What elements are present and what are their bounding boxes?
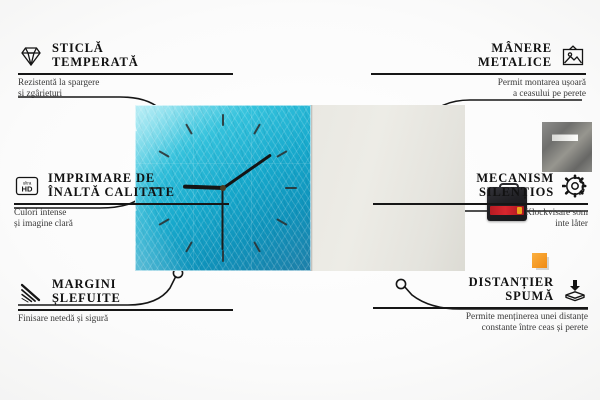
feature-callout-silent-mechanism: MECANISM SILENȚIOS Klockvisare som inte … xyxy=(373,172,588,230)
feature-title: MARGINI ȘLEFUITE xyxy=(52,278,121,305)
divider xyxy=(373,203,588,205)
diagonal-lines-icon xyxy=(18,280,44,304)
feature-callout-metal-handles: MÂNERE METALICE Permit montarea ușoară a… xyxy=(371,42,586,100)
foam-spacer-part xyxy=(532,253,547,268)
feature-title: MECANISM SILENȚIOS xyxy=(476,172,554,199)
feature-subtitle: Finisare netedă și sigură xyxy=(18,314,233,325)
ultra-hd-icon: ultra HD xyxy=(14,174,40,198)
divider xyxy=(18,73,233,75)
divider xyxy=(371,73,586,75)
infographic-stage: STICLĂ TEMPERATĂ Rezistentă la spargere … xyxy=(0,0,600,400)
feature-callout-polished-edges: MARGINI ȘLEFUITE Finisare netedă și sigu… xyxy=(18,278,233,325)
picture-hanger-icon xyxy=(560,44,586,68)
feature-title: MÂNERE METALICE xyxy=(478,42,552,69)
feature-title: IMPRIMARE DE ÎNALTĂ CALITATE xyxy=(48,172,175,199)
minute-hand xyxy=(222,154,271,190)
feature-title: DISTANȚIER SPUMĂ xyxy=(469,276,554,303)
divider xyxy=(18,309,233,311)
feature-callout-foam-spacer: DISTANȚIER SPUMĂ Permite menținerea unei… xyxy=(373,276,588,334)
feature-subtitle: Permit montarea ușoară a ceasului pe per… xyxy=(371,78,586,101)
feature-subtitle: Culori intense și imagine clară xyxy=(14,208,229,231)
svg-text:HD: HD xyxy=(22,184,33,193)
feature-subtitle: Permite menținerea unei distanțe constan… xyxy=(373,312,588,335)
diamond-icon xyxy=(18,44,44,68)
feature-subtitle: Rezistentă la spargere și zgârieturi xyxy=(18,78,233,101)
feature-callout-high-quality-print: ultra HD IMPRIMARE DE ÎNALTĂ CALITATE Cu… xyxy=(14,172,229,230)
feature-title: STICLĂ TEMPERATĂ xyxy=(52,42,139,69)
feature-subtitle: Klockvisare som inte låter xyxy=(373,208,588,231)
hanger-slot xyxy=(552,134,578,141)
divider xyxy=(373,307,588,309)
divider xyxy=(14,203,229,205)
metal-hanger-part xyxy=(542,122,592,172)
gear-icon xyxy=(562,174,588,198)
feature-callout-tempered-glass: STICLĂ TEMPERATĂ Rezistentă la spargere … xyxy=(18,42,233,100)
press-down-icon xyxy=(562,278,588,302)
